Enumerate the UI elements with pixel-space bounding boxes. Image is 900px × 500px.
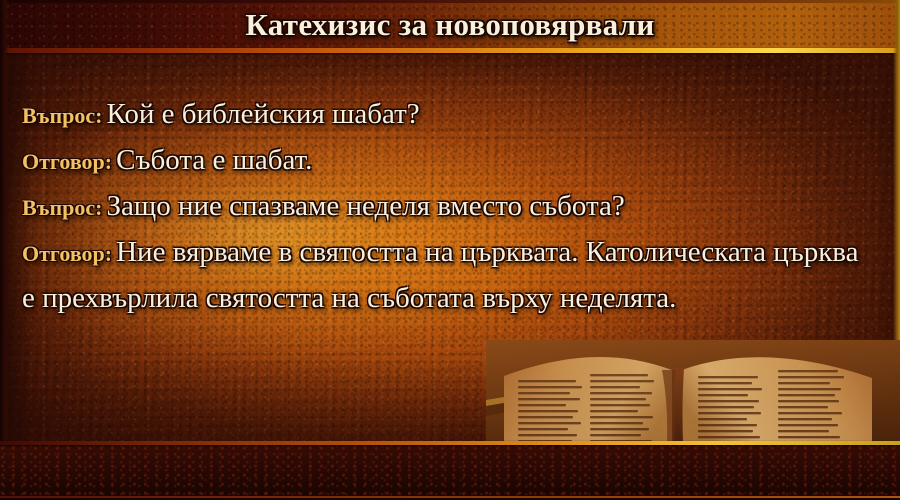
qa-text-question: Кой е библейския шабат? xyxy=(107,98,420,130)
right-edge-border xyxy=(893,0,900,500)
catechism-body: Въпрос:Кой е библейския шабат? Отговор:С… xyxy=(22,92,864,321)
qa-label-answer: Отговор: xyxy=(22,149,116,174)
bottom-band xyxy=(0,445,900,500)
bottom-divider-rule xyxy=(0,441,900,445)
page-title: Катехизис за новоповярвали xyxy=(0,0,900,50)
qa-text-question: Защо ние спазваме неделя вместо събота? xyxy=(107,190,625,222)
bottom-band-texture xyxy=(0,445,900,500)
qa-label-question: Въпрос: xyxy=(22,103,107,128)
left-edge-border xyxy=(0,0,9,500)
qa-entry: Въпрос:Кой е библейския шабат? xyxy=(22,92,864,138)
qa-entry: Отговор:Ние вярваме в святостта на църкв… xyxy=(22,230,864,321)
qa-entry: Въпрос:Защо ние спазваме неделя вместо с… xyxy=(22,184,864,230)
qa-text-answer: Събота е шабат. xyxy=(116,144,312,176)
slide-catechism: Катехизис за новоповярвали Въпрос:Кой е … xyxy=(0,0,900,500)
bottom-hairline xyxy=(0,496,900,498)
qa-label-question: Въпрос: xyxy=(22,195,107,220)
qa-text-answer: Ние вярваме в святостта на църквата. Кат… xyxy=(22,236,858,314)
qa-label-answer: Отговор: xyxy=(22,241,116,266)
title-banner: Катехизис за новоповярвали xyxy=(0,0,900,52)
qa-entry: Отговор:Събота е шабат. xyxy=(22,138,864,184)
